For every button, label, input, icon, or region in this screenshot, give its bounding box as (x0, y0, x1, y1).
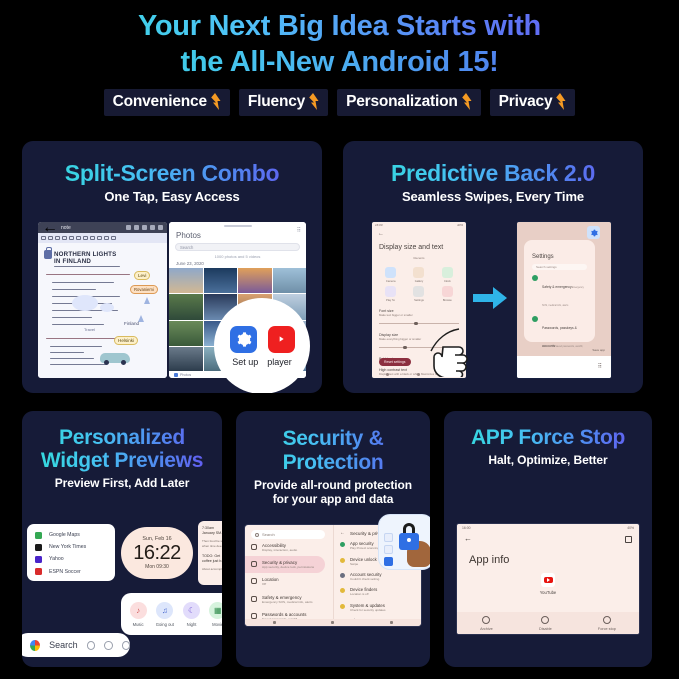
status-bar: 16:0040% (372, 222, 466, 228)
gear-icon (230, 326, 257, 353)
photos-search-placeholder: Search (180, 245, 193, 250)
recent-app-label: Play St. (386, 299, 395, 302)
list-item-label: Yahoo (49, 556, 64, 562)
youtube-icon (541, 573, 555, 587)
card-subtitle: Seamless Swipes, Every Time (343, 190, 643, 205)
ruler-icon[interactable] (97, 236, 102, 241)
photo-thumb[interactable] (204, 268, 238, 293)
shape-icon[interactable] (62, 236, 67, 241)
app-pair-labels: Set up player (232, 357, 292, 367)
settings-back-preview-screen[interactable]: Settings Search settings Safety & emerge… (516, 221, 612, 379)
photos-count: 1000 photos and 5 videos (169, 254, 306, 259)
card-security-protection[interactable]: Security & Protection Provide all-round … (236, 411, 430, 667)
split-view-icon[interactable]: ⠿ (598, 363, 602, 370)
settings-item-label: Safety & emergency (542, 285, 572, 289)
recent-app[interactable]: Play St. (378, 286, 403, 302)
location-icon (251, 578, 257, 584)
settings-item-hint: Emergency SOS, medical info, alerts (542, 286, 584, 307)
recent-app[interactable]: Camera (378, 267, 403, 283)
note-doc-title: NORTHERN LIGHTS IN FINLAND (54, 251, 116, 265)
security-item-system-updates[interactable]: System & updatesCheck for security updat… (334, 600, 421, 615)
drag-handle[interactable] (224, 225, 252, 227)
search-widget[interactable]: Search (22, 633, 130, 657)
photos-date-header: June 23, 2020 (176, 261, 204, 266)
card-title-line-1: Personalized (59, 426, 185, 449)
action-label: Force stop (598, 627, 616, 631)
disable-button[interactable]: Disable (539, 616, 552, 631)
more-icon[interactable] (158, 225, 163, 230)
tag-label: Convenience (113, 93, 207, 111)
list-item-label: ESPN Soccer (49, 569, 81, 575)
photo-thumb[interactable] (169, 294, 203, 319)
security-item-device-finders[interactable]: Device findersLocation is off (334, 584, 421, 599)
action-label: Disable (539, 627, 552, 631)
nav-recents-icon[interactable] (390, 621, 393, 624)
search-icon (255, 533, 259, 537)
mode-label: Movie (212, 622, 222, 627)
tag-label: Personalization (346, 93, 458, 111)
recent-app[interactable]: Clock (435, 267, 460, 283)
list-item[interactable]: New York Times (27, 541, 115, 553)
list-item[interactable]: Google Maps (27, 529, 115, 541)
action-label: Archive (480, 627, 493, 631)
tag-label: Privacy (499, 93, 553, 111)
save-app-label[interactable]: Save app (592, 348, 605, 352)
label-travel: Travel (84, 327, 95, 332)
header: Your Next Big Idea Starts with the All-N… (0, 0, 679, 116)
settings-menu-safety-emergency[interactable]: Safety & emergencyEmergency SOS, medical… (245, 591, 331, 608)
mode-music[interactable]: ♪Music (130, 602, 147, 627)
mode-movie[interactable]: ▦Movie (209, 602, 222, 627)
gear-icon (587, 226, 600, 239)
recent-apps-grid[interactable]: Camera Gallery Clock Play St. Settings B… (378, 267, 460, 302)
note-item-body: About accomplish (202, 567, 222, 572)
force-stop-button[interactable]: Force stop (598, 616, 616, 631)
app-pair-player[interactable] (268, 326, 295, 353)
espn-icon (35, 568, 42, 575)
font-size-setting[interactable]: Font size Make text bigger or smaller (379, 309, 459, 326)
shield-icon (251, 561, 257, 567)
list-item[interactable]: ESPN Soccer (27, 566, 115, 578)
headline-line-2: the All-New Android 15! (0, 44, 679, 80)
recent-app-label: Camera (386, 280, 396, 283)
settings-search-input[interactable]: Search settings (532, 264, 587, 270)
emergency-icon (251, 596, 257, 602)
page-title: App info (469, 554, 639, 566)
card-subtitle-line-2: for your app and data (273, 492, 394, 506)
photos-footer-icon (174, 373, 178, 377)
headline-line-1: Your Next Big Idea Starts with (0, 8, 679, 44)
app-pair-setup-label: Set up (232, 357, 258, 367)
app-identity: YouTube (457, 573, 639, 595)
youtube-icon (268, 326, 295, 353)
card-title-line-2: Protection (283, 451, 384, 474)
clock-alarm: Mon 09:30 (145, 564, 169, 570)
nav-bar[interactable] (245, 619, 421, 626)
status-battery: 40% (627, 526, 634, 530)
clock-widget[interactable]: Sun, Feb 16 16:22 Mon 09:30 (121, 527, 193, 579)
item-hint: Location is off (350, 592, 377, 596)
pill-rovaniemi: Rovaniemi (130, 285, 158, 294)
nyt-icon (35, 544, 42, 551)
notes-widget[interactable]: 7:30am January SM... Then food be what's… (198, 521, 222, 585)
nav-home-icon[interactable] (331, 621, 334, 624)
mode-label: Music (133, 622, 144, 627)
card-subtitle: Preview First, Add Later (22, 477, 222, 491)
card-row-bottom: Personalized Widget Previews Preview Fir… (22, 411, 652, 667)
arrow-up-icon (459, 92, 473, 112)
menu-label: Passwords & accounts (262, 612, 306, 617)
photo-thumb[interactable] (169, 347, 203, 372)
menu-hint: Off (262, 582, 279, 586)
app-pair-player-label: player (267, 357, 292, 367)
card-subtitle: Provide all-round protection for your ap… (236, 479, 430, 507)
google-icon (30, 640, 40, 651)
reset-settings-button[interactable]: Reset settings (379, 358, 411, 366)
card-title-line-2: Widget Previews (41, 449, 203, 472)
recent-app-label: Settings (414, 299, 424, 302)
swipe-hand-icon (423, 325, 485, 377)
label-finland: Finland (124, 321, 139, 326)
card-title: Personalized Widget Previews (22, 411, 222, 472)
suitcase-doodle (44, 250, 52, 259)
menu-hint: Emergency SOS, medical info, alerts (262, 600, 313, 604)
menu-hint: App security, device lock, permissions (262, 565, 314, 569)
transition-arrow-icon (473, 287, 507, 309)
note-doc-title-line1: NORTHERN LIGHTS (54, 251, 116, 258)
recent-app[interactable]: Browse (435, 286, 460, 302)
recents-label: Recents (372, 256, 466, 260)
search-input-placeholder[interactable]: Search (49, 640, 78, 650)
recent-app-label: Clock (444, 280, 451, 283)
photo-thumb[interactable] (273, 268, 307, 293)
zoom-icon[interactable] (104, 236, 109, 241)
card-app-force-stop[interactable]: APP Force Stop Halt, Optimize, Better 16… (444, 411, 652, 667)
key-icon (251, 613, 257, 619)
notes-widget-body: 7:30am January SM... Then food be what's… (198, 521, 222, 585)
photo-thumb[interactable] (169, 268, 203, 293)
eraser-icon[interactable] (55, 236, 60, 241)
nav-home-icon[interactable] (417, 373, 420, 376)
item-hint: Check for security updates (350, 608, 386, 612)
person-mini-icon (384, 557, 393, 566)
disable-icon (541, 616, 549, 624)
menu-hint: Display, interaction, audio (262, 548, 297, 552)
color-icon[interactable] (90, 236, 95, 241)
list-item-label: Google Maps (49, 532, 80, 538)
display-heading: Display size and text (379, 244, 466, 251)
card-row-top: Split-Screen Combo One Tap, Easy Access … (22, 141, 643, 393)
app-pair-setup[interactable] (230, 326, 257, 353)
google-maps-icon (35, 532, 42, 539)
pen-icon[interactable] (41, 236, 46, 241)
item-hint: Swipe (350, 562, 377, 566)
nav-back-icon[interactable] (273, 621, 276, 624)
note-item-sub: January SM... (202, 531, 222, 536)
accessibility-icon (251, 544, 257, 550)
list-item[interactable]: Yahoo (27, 553, 115, 565)
app-action-bar[interactable]: Archive Disable Force stop (457, 612, 639, 634)
recent-app-label: Gallery (415, 280, 424, 283)
undo-icon[interactable] (126, 225, 131, 230)
note-item-body: Then food be what's food get when time d… (202, 539, 222, 548)
app-info-mock[interactable]: 16:00 40% ← App info YouTube Archive Dis… (456, 523, 640, 635)
status-bar: 16:00 40% (457, 524, 639, 532)
select-icon[interactable] (69, 236, 74, 241)
modes-widget[interactable]: ♪Music ♫Going out ☾Night ▦Movie ◐Sleep (121, 593, 222, 635)
card-title-line-1: Security & (283, 427, 384, 450)
bottom-sheet: ⠿ (517, 356, 611, 378)
archive-button[interactable]: Archive (480, 616, 493, 631)
tag-privacy[interactable]: Privacy (490, 89, 576, 116)
app-pair-overlay[interactable]: Set up player (214, 298, 310, 393)
item-label: System & updates (350, 603, 386, 608)
lock-keyhole (407, 538, 411, 542)
photo-thumb[interactable] (169, 321, 203, 346)
app-info-toolbar: ← (457, 532, 639, 546)
yahoo-icon (35, 556, 42, 563)
settings-item[interactable]: Safety & emergencyEmergency SOS, medical… (532, 275, 587, 311)
mode-night[interactable]: ☾Night (183, 602, 200, 627)
feature-tag-row: Convenience Fluency Personalization Priv… (0, 89, 679, 116)
settings-search-input[interactable]: Search (251, 530, 325, 539)
arrow-up-icon (306, 92, 320, 112)
tag-convenience[interactable]: Convenience (104, 89, 230, 116)
card-title: APP Force Stop (444, 411, 652, 449)
lock-in-hand-icon (378, 514, 430, 570)
app-pair-icons (230, 326, 295, 353)
settings-preview-card[interactable]: Settings Search settings Safety & emerge… (524, 240, 595, 342)
card-title: Predictive Back 2.0 (343, 141, 643, 185)
card-widget-previews[interactable]: Personalized Widget Previews Preview Fir… (22, 411, 222, 667)
archive-icon (482, 616, 490, 624)
recent-app[interactable]: Settings (406, 286, 431, 302)
tag-fluency[interactable]: Fluency (239, 89, 328, 116)
card-subtitle-line-1: Provide all-round protection (254, 478, 412, 492)
microphone-icon[interactable] (87, 641, 95, 650)
circle-search-icon[interactable] (122, 641, 130, 650)
recent-app-label: Browse (443, 299, 452, 302)
redo-icon[interactable] (134, 225, 139, 230)
card-split-screen[interactable]: Split-Screen Combo One Tap, Easy Access … (22, 141, 322, 393)
note-doc-title-line2: IN FINLAND (54, 258, 116, 265)
mode-going-out[interactable]: ♫Going out (156, 602, 174, 627)
photo-thumb[interactable] (238, 268, 272, 293)
phone-mini-icon (384, 533, 393, 542)
pill-levi: Levi (134, 271, 150, 280)
arrow-up-icon (208, 92, 222, 112)
photos-header: Photos Search 1000 photos and 5 videos J… (169, 222, 306, 268)
clock-time: 16:22 (133, 543, 181, 563)
grid-mini-icon (384, 545, 393, 554)
list-item-label: New York Times (49, 544, 86, 550)
grid-icon[interactable] (111, 236, 116, 241)
mode-label: Night (187, 622, 197, 627)
settings-search-placeholder: Search settings (536, 265, 557, 269)
card-subtitle: One Tap, Easy Access (22, 190, 322, 205)
save-icon[interactable] (150, 225, 155, 230)
nav-back-icon[interactable] (386, 373, 389, 376)
car-doodle (100, 353, 130, 363)
image-icon[interactable] (76, 236, 81, 241)
note-item-sub: coffee just b... (202, 559, 222, 564)
poster-root: Your Next Big Idea Starts with the All-N… (0, 0, 679, 679)
security-item-account-security[interactable]: Account securityCouldn't check setting (334, 569, 421, 584)
notes-app-pane[interactable]: ← note (38, 222, 167, 378)
setting-hint: Make text bigger or smaller (379, 313, 459, 317)
settings-menu-accessibility[interactable]: AccessibilityDisplay, interaction, audio (245, 539, 331, 556)
share-icon[interactable] (142, 225, 147, 230)
force-stop-icon (603, 616, 611, 624)
back-icon[interactable]: ← (378, 231, 466, 237)
status-time: 16:00 (462, 526, 471, 530)
text-icon[interactable] (83, 236, 88, 241)
item-label: Device unlock (350, 557, 377, 562)
arrow-up-icon (553, 92, 567, 112)
predictive-back-mock: 16:0040% ← Display size and text Recents… (361, 221, 625, 379)
recent-app[interactable]: Gallery (406, 267, 431, 283)
tag-label: Fluency (248, 93, 305, 111)
photos-search-input[interactable]: Search (175, 243, 300, 251)
item-hint: Couldn't check setting (350, 577, 382, 581)
photos-more-icon[interactable]: ⠿ (297, 227, 301, 234)
settings-title: Settings (532, 254, 595, 260)
split-screen-mock: ← note (38, 222, 306, 378)
back-icon[interactable]: ← (340, 530, 345, 536)
card-title: Security & Protection (236, 411, 430, 474)
app-name: YouTube (540, 590, 556, 595)
notes-canvas[interactable]: NORTHERN LIGHTS IN FINLAND (38, 243, 167, 378)
card-predictive-back[interactable]: Predictive Back 2.0 Seamless Swipes, Eve… (343, 141, 643, 393)
settings-menu-security-privacy[interactable]: Security & privacyApp security, device l… (245, 556, 325, 573)
open-external-icon[interactable] (625, 536, 632, 543)
notes-toolbar: ← note (38, 222, 167, 233)
mode-label: Going out (156, 622, 174, 627)
card-subtitle: Halt, Optimize, Better (444, 454, 652, 468)
tag-personalization[interactable]: Personalization (337, 89, 481, 116)
highlighter-icon[interactable] (48, 236, 53, 241)
notes-toolbar-title: note (61, 225, 71, 231)
photos-footer-label: Photos (180, 373, 191, 377)
lens-icon[interactable] (104, 641, 112, 650)
settings-search-placeholder: Search (262, 532, 275, 537)
widget-app-list[interactable]: Google Maps New York Times Yahoo ESPN So… (27, 524, 115, 581)
back-icon[interactable]: ← (464, 535, 472, 543)
photos-title: Photos (176, 231, 201, 240)
settings-menu-location[interactable]: LocationOff (245, 573, 331, 590)
back-icon[interactable]: ← (42, 222, 58, 237)
card-title: Split-Screen Combo (22, 141, 322, 185)
settings-left-pane[interactable]: Search AccessibilityDisplay, interaction… (245, 525, 331, 626)
pill-helsinki: Helsinki (114, 336, 138, 345)
